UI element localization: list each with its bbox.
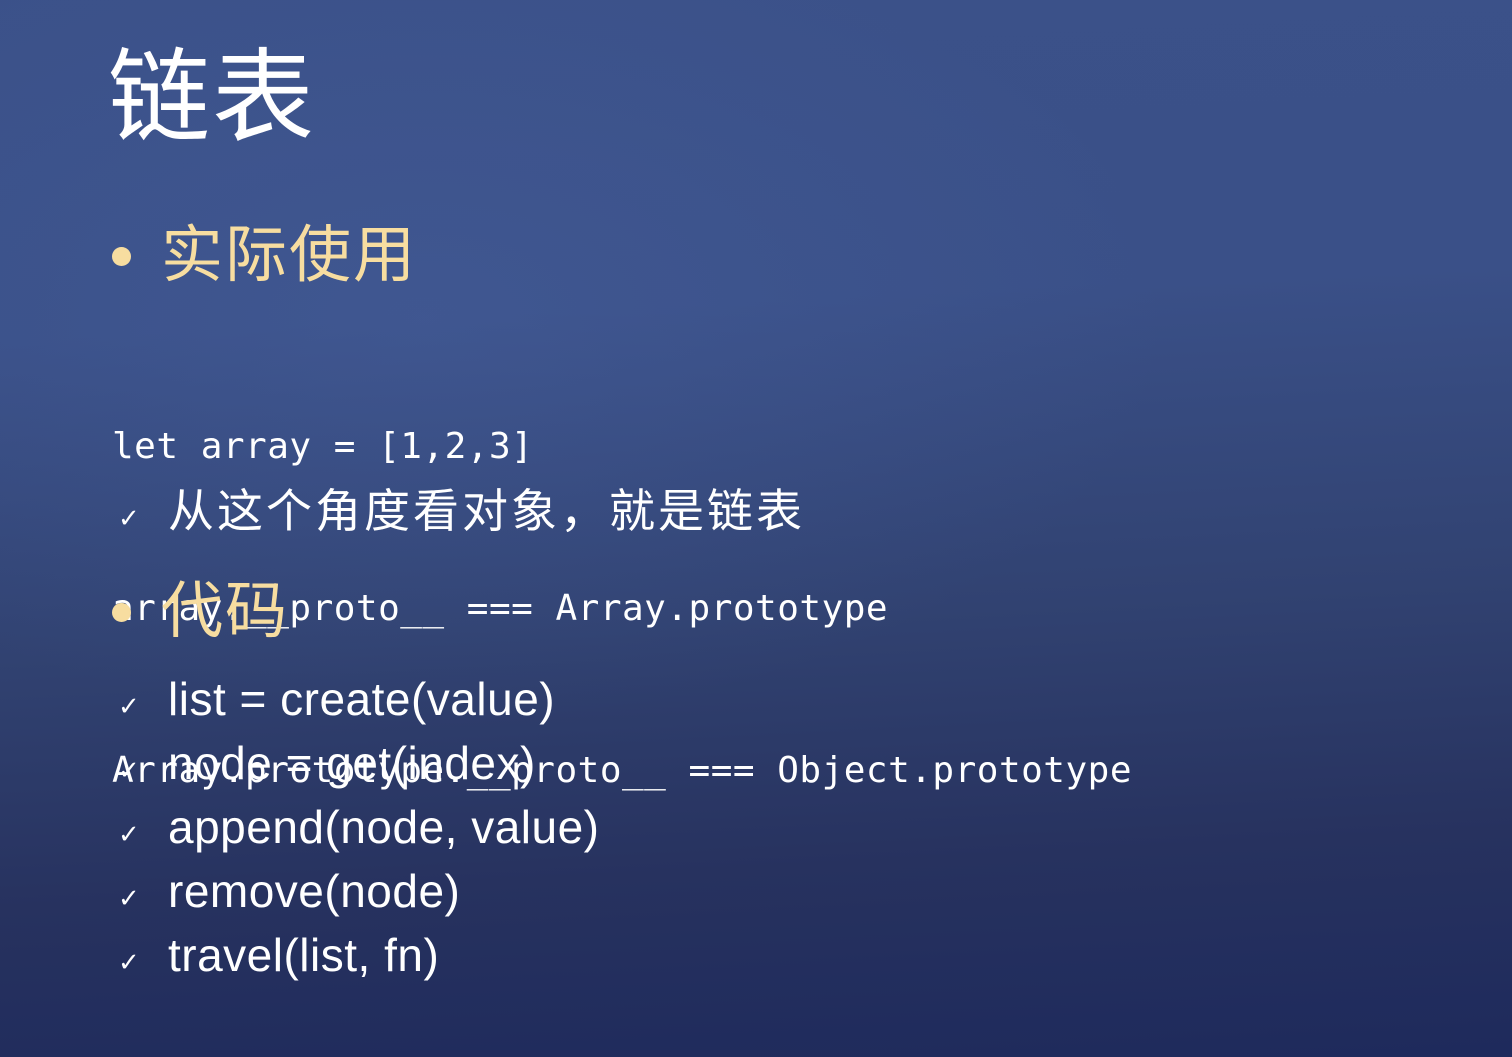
- check-icon: ✓: [112, 885, 168, 911]
- list-item: ✓ remove(node): [112, 868, 460, 914]
- list-item-label: 从这个角度看对象，就是链表: [168, 488, 805, 534]
- list-item: ✓ append(node, value): [112, 804, 600, 850]
- page-title: 链表: [108, 38, 316, 158]
- dot-bullet-icon: [112, 603, 131, 622]
- dot-bullet-icon: [112, 247, 131, 266]
- check-icon: ✓: [112, 505, 168, 531]
- section-label: 代码: [161, 578, 289, 646]
- list-item: ✓ travel(list, fn): [112, 932, 439, 978]
- list-item: ✓ 从这个角度看对象，就是链表: [112, 488, 805, 534]
- list-item: ✓ list = create(value): [112, 676, 555, 722]
- section-label: 实际使用: [161, 222, 417, 290]
- check-icon: ✓: [112, 821, 168, 847]
- presentation-slide: 链表 实际使用 let array = [1,2,3] array.__prot…: [0, 0, 1512, 1057]
- check-icon: ✓: [112, 949, 168, 975]
- check-icon: ✓: [112, 757, 168, 783]
- list-item: ✓ node = get(index): [112, 740, 536, 786]
- check-icon: ✓: [112, 693, 168, 719]
- list-item-label: travel(list, fn): [168, 932, 439, 978]
- section-heading-code: 代码: [112, 578, 289, 646]
- code-line: let array = [1,2,3]: [112, 420, 1132, 474]
- list-item-label: list = create(value): [168, 676, 555, 722]
- list-item-label: node = get(index): [168, 740, 536, 786]
- list-item-label: append(node, value): [168, 804, 600, 850]
- list-item-label: remove(node): [168, 868, 460, 914]
- section-heading-practical-use: 实际使用: [112, 222, 417, 290]
